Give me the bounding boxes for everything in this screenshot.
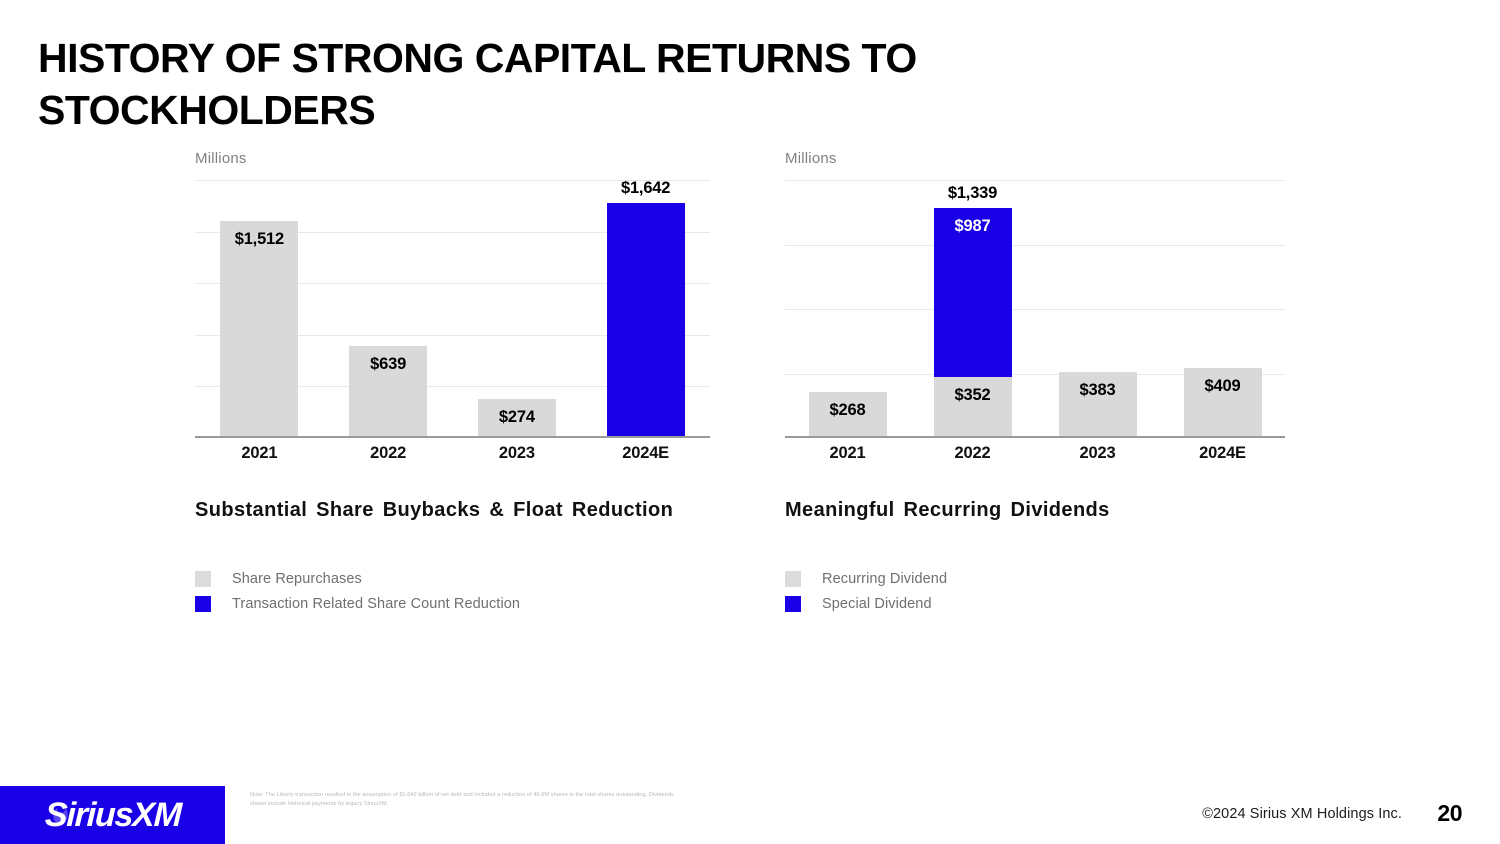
x-axis-ticks: 2021202220232024E xyxy=(195,444,710,463)
legend-item[interactable]: Share Repurchases xyxy=(195,566,710,591)
legend-label: Transaction Related Share Count Reductio… xyxy=(232,596,520,612)
chart-legend: Recurring DividendSpecial Dividend xyxy=(785,566,1285,616)
bar-2024E[interactable]: $1,642 xyxy=(607,203,685,438)
bar-value-label: $409 xyxy=(1205,377,1241,396)
slide: HISTORY OF STRONG CAPITAL RETURNS TO STO… xyxy=(0,0,1500,844)
bar-2022[interactable]: $987$352$1,339 xyxy=(934,208,1012,438)
legend-swatch-icon xyxy=(785,571,801,587)
legend-swatch-icon xyxy=(195,571,211,587)
footnote: Note: The Liberty transaction resulted i… xyxy=(250,791,690,808)
bar-total-label: $1,339 xyxy=(948,184,997,203)
chart-panel-recurring-dividends: Millions $268$987$352$1,339$383$409 2021… xyxy=(785,150,1285,616)
plot-area-share-buybacks: $1,512$639$274$1,642 xyxy=(195,180,710,438)
bar-group: $268$987$352$1,339$383$409 xyxy=(785,180,1285,438)
x-tick-2023: 2023 xyxy=(453,444,582,463)
legend-label: Recurring Dividend xyxy=(822,571,947,587)
x-tick-2022: 2022 xyxy=(910,444,1035,463)
bar-group: $1,512$639$274$1,642 xyxy=(195,180,710,438)
x-tick-2023: 2023 xyxy=(1035,444,1160,463)
legend-label: Special Dividend xyxy=(822,596,932,612)
legend-item[interactable]: Special Dividend xyxy=(785,591,1285,616)
x-tick-2022: 2022 xyxy=(324,444,453,463)
bar-value-label: $1,512 xyxy=(235,230,284,249)
x-tick-2024E: 2024E xyxy=(1160,444,1285,463)
dog-icon xyxy=(48,805,71,827)
bar-slot: $274 xyxy=(453,180,582,438)
bar-slot: $1,512 xyxy=(195,180,324,438)
x-tick-2021: 2021 xyxy=(195,444,324,463)
bar-2023[interactable]: $274 xyxy=(478,399,556,438)
bar-slot: $409 xyxy=(1160,180,1285,438)
bar-total-label: $1,642 xyxy=(621,179,670,198)
bar-segment: $409 xyxy=(1184,368,1262,438)
bar-value-label: $987 xyxy=(955,217,991,236)
bar-2024E[interactable]: $409 xyxy=(1184,368,1262,438)
bar-segment: $274 xyxy=(478,399,556,438)
x-axis-ticks: 2021202220232024E xyxy=(785,444,1285,463)
bar-segment: $987 xyxy=(934,208,1012,378)
page-title: HISTORY OF STRONG CAPITAL RETURNS TO STO… xyxy=(38,32,1138,137)
x-axis-line xyxy=(195,436,710,438)
bar-slot: $639 xyxy=(324,180,453,438)
bar-segment: $383 xyxy=(1059,372,1137,438)
chart-panel-share-buybacks: Millions $1,512$639$274$1,642 2021202220… xyxy=(195,150,710,616)
chart-caption: Substantial Share Buybacks & Float Reduc… xyxy=(195,499,710,522)
plot-area-recurring-dividends: $268$987$352$1,339$383$409 xyxy=(785,180,1285,438)
legend-label: Share Repurchases xyxy=(232,571,362,587)
bar-slot: $987$352$1,339 xyxy=(910,180,1035,438)
bar-slot: $1,642 xyxy=(581,180,710,438)
bar-slot: $268 xyxy=(785,180,910,438)
x-axis-line xyxy=(785,436,1285,438)
units-label: Millions xyxy=(785,150,1285,170)
x-tick-2024E: 2024E xyxy=(581,444,710,463)
bar-segment: $1,512 xyxy=(220,221,298,438)
copyright-notice: ©2024 Sirius XM Holdings Inc. xyxy=(1202,806,1402,822)
x-tick-2021: 2021 xyxy=(785,444,910,463)
siriusxm-logo: SiriusXM xyxy=(0,786,225,844)
bar-value-label: $274 xyxy=(499,408,535,427)
bar-slot: $383 xyxy=(1035,180,1160,438)
chart-caption: Meaningful Recurring Dividends xyxy=(785,499,1285,522)
page-number: 20 xyxy=(1437,800,1462,827)
legend-swatch-icon xyxy=(195,596,211,612)
bar-value-label: $268 xyxy=(830,401,866,420)
logo-wordmark: SiriusXM xyxy=(44,796,181,835)
chart-legend: Share RepurchasesTransaction Related Sha… xyxy=(195,566,710,616)
bar-2021[interactable]: $268 xyxy=(809,392,887,438)
bar-segment: $639 xyxy=(349,346,427,438)
legend-swatch-icon xyxy=(785,596,801,612)
bar-value-label: $639 xyxy=(370,355,406,374)
bar-segment: $268 xyxy=(809,392,887,438)
bar-2022[interactable]: $639 xyxy=(349,346,427,438)
bar-2021[interactable]: $1,512 xyxy=(220,221,298,438)
units-label: Millions xyxy=(195,150,710,170)
bar-segment xyxy=(607,203,685,438)
bar-value-label: $383 xyxy=(1080,381,1116,400)
bar-2023[interactable]: $383 xyxy=(1059,372,1137,438)
bar-value-label: $352 xyxy=(955,386,991,405)
legend-item[interactable]: Transaction Related Share Count Reductio… xyxy=(195,591,710,616)
legend-item[interactable]: Recurring Dividend xyxy=(785,566,1285,591)
bar-segment: $352 xyxy=(934,377,1012,438)
